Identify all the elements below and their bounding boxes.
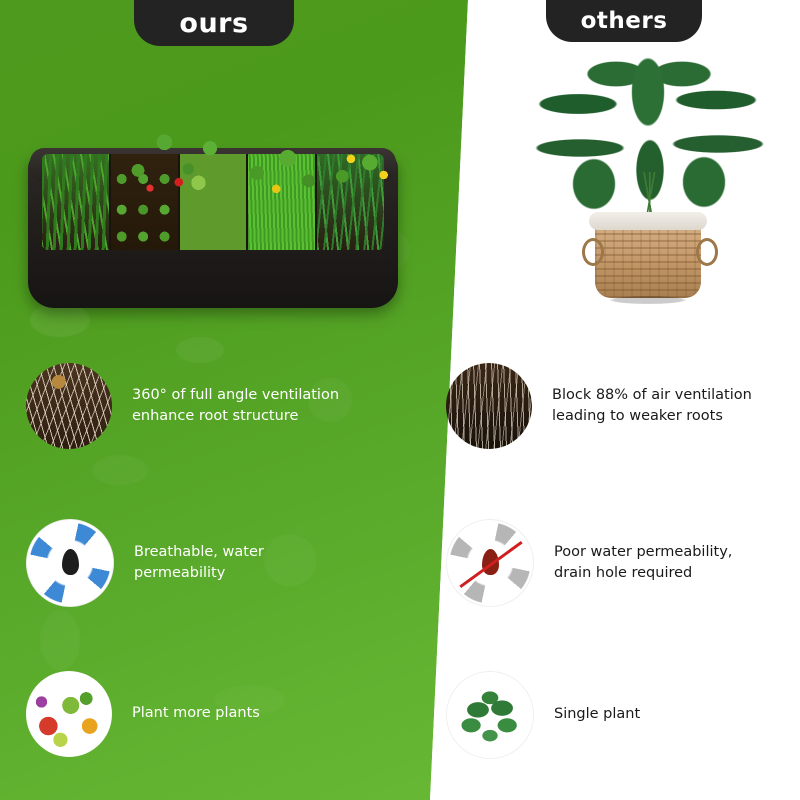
bed-cell-sprouts [42, 154, 109, 250]
bed-plant-herb [234, 140, 330, 206]
water-droplet-icon [62, 549, 79, 575]
others-feature-2-text: Poor water permeability, drain hole requ… [554, 542, 732, 584]
pot-shadow [592, 294, 704, 306]
pot-handle-right [696, 238, 718, 266]
raised-garden-bed-image [28, 118, 398, 308]
others-feature-3-text: Single plant [554, 704, 640, 725]
others-feature-1-text: Block 88% of air ventilation leading to … [552, 385, 752, 427]
others-feature-1: Block 88% of air ventilation leading to … [446, 363, 796, 449]
bed-plant-tomato [114, 126, 234, 200]
others-label: others [546, 0, 702, 42]
others-feature-2: Poor water permeability, drain hole requ… [446, 519, 796, 607]
pot-handle-left [582, 238, 604, 266]
water-permeability-icon [26, 519, 114, 607]
ours-feature-1-text: 360° of full angle ventilation enhance r… [132, 385, 339, 427]
roots-weak-icon [446, 363, 532, 449]
roots-healthy-icon [26, 363, 112, 449]
ours-feature-3: Plant more plants [26, 671, 426, 757]
bed-plant-flower [320, 144, 406, 206]
pot-liner-rim [589, 212, 707, 230]
comparison-infographic: ours others 360° of full angle ventilati… [0, 0, 800, 800]
single-plant-icon [446, 671, 534, 759]
ours-label: ours [134, 0, 294, 46]
potted-palm-image [520, 52, 780, 312]
others-feature-3: Single plant [446, 671, 796, 759]
vegetables-icon [26, 671, 112, 757]
ours-feature-2-text: Breathable, water permeability [134, 542, 264, 584]
ours-feature-2: Breathable, water permeability [26, 519, 426, 607]
single-plant-art [447, 672, 533, 758]
wicker-pot [595, 220, 701, 298]
ours-feature-3-text: Plant more plants [132, 703, 260, 724]
no-water-permeability-icon [446, 519, 534, 607]
ours-feature-1: 360° of full angle ventilation enhance r… [26, 363, 426, 449]
